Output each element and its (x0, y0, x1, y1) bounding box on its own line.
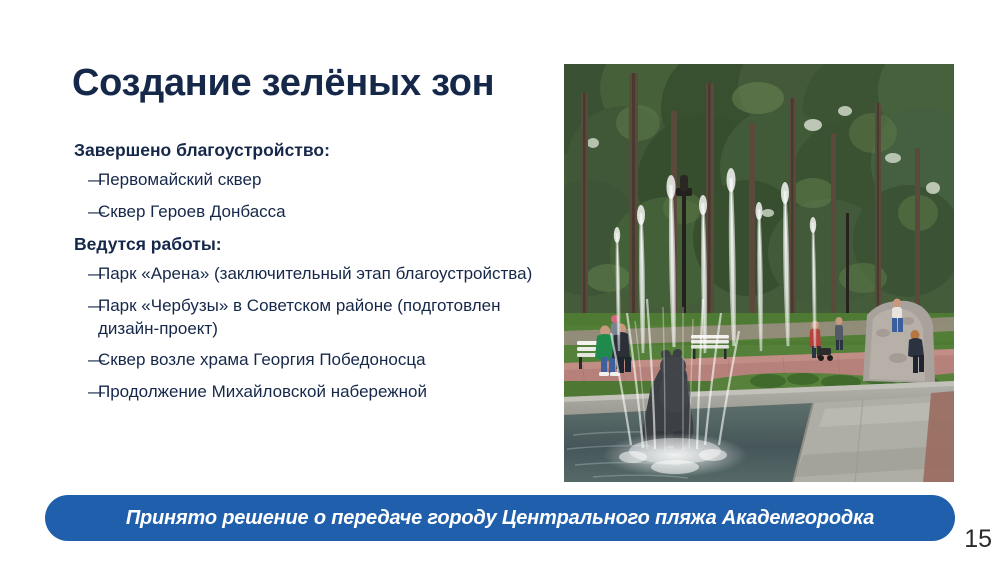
list-item: — Парк «Чербузы» в Советском районе (под… (74, 295, 544, 340)
list-item-label: Продолжение Михайловской набережной (98, 381, 544, 404)
list-item: — Парк «Арена» (заключительный этап благ… (74, 263, 544, 286)
bullet-dash-icon: — (74, 169, 98, 192)
list-item: — Сквер возле храма Георгия Победоносца (74, 349, 544, 372)
list-item-label: Парк «Арена» (заключительный этап благоу… (98, 263, 544, 286)
list-item-label: Сквер Героев Донбасса (98, 201, 544, 224)
content-column: Завершено благоустройство: — Первомайски… (74, 140, 544, 404)
bullet-dash-icon: — (74, 201, 98, 224)
list-item: — Продолжение Михайловской набережной (74, 381, 544, 404)
stone-boulder (863, 299, 935, 384)
page-number: 15 (964, 525, 992, 554)
park-fountain-photo (563, 63, 955, 483)
in-progress-list: — Парк «Арена» (заключительный этап благ… (74, 263, 544, 403)
completed-list: — Первомайский сквер — Сквер Героев Донб… (74, 169, 544, 223)
list-item: — Первомайский сквер (74, 169, 544, 192)
bullet-dash-icon: — (74, 349, 98, 372)
list-item-label: Парк «Чербузы» в Советском районе (подго… (98, 295, 544, 340)
list-item-label: Сквер возле храма Георгия Победоносца (98, 349, 544, 372)
bullet-dash-icon: — (74, 381, 98, 404)
page-title: Создание зелёных зон (72, 62, 494, 105)
section-heading-in-progress: Ведутся работы: (74, 234, 544, 254)
bullet-dash-icon: — (74, 263, 98, 286)
list-item-label: Первомайский сквер (98, 169, 544, 192)
person-distant (835, 317, 843, 350)
section-heading-completed: Завершено благоустройство: (74, 140, 544, 160)
highlight-banner-label: Принято решение о передаче городу Центра… (126, 507, 874, 530)
highlight-banner: Принято решение о передаче городу Центра… (45, 495, 955, 541)
bullet-dash-icon: — (74, 295, 98, 318)
list-item: — Сквер Героев Донбасса (74, 201, 544, 224)
